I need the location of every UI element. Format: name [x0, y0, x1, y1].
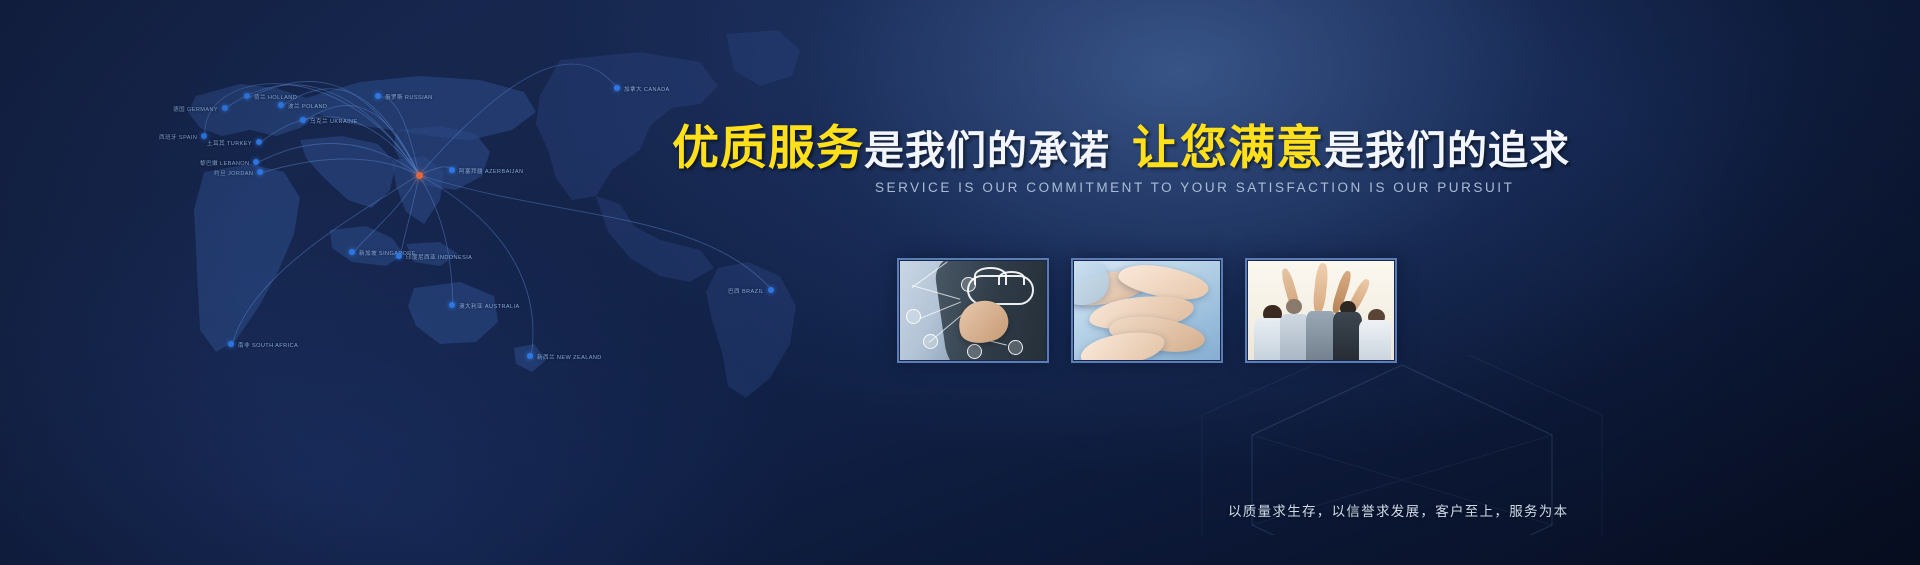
- map-marker-new-zealand[interactable]: [527, 353, 533, 359]
- map-label-germany: 德国 GERMANY: [173, 105, 218, 113]
- bottom-tagline: 以质量求生存，以信誉求发展，客户至上，服务为本: [1228, 500, 1568, 520]
- map-marker-indonesia[interactable]: [396, 253, 402, 259]
- world-map: 荷兰 HOLLAND德国 GERMANY波兰 POLAND乌克兰 UKRAINE…: [0, 0, 880, 430]
- team-high-five-photo[interactable]: [1245, 258, 1397, 363]
- headline-normal-1: 是我们的承诺: [864, 129, 1110, 173]
- map-marker-poland[interactable]: [278, 102, 284, 108]
- map-marker-ukraine[interactable]: [300, 117, 306, 123]
- headline-highlight-2: 让您满意: [1132, 121, 1324, 174]
- map-label-brazil: 巴西 BRAZIL: [728, 287, 764, 295]
- map-marker-germany[interactable]: [222, 105, 228, 111]
- map-label-indonesia: 印度尼西亚 INDONESIA: [406, 253, 472, 261]
- stacked-hands-photo[interactable]: [1071, 258, 1223, 363]
- map-label-canada: 加拿大 CANADA: [624, 85, 670, 93]
- promo-banner: 荷兰 HOLLAND德国 GERMANY波兰 POLAND乌克兰 UKRAINE…: [0, 0, 1920, 565]
- map-label-jordan: 约旦 JORDAN: [214, 169, 253, 177]
- map-marker-australia[interactable]: [449, 302, 455, 308]
- headline-normal-2: 是我们的追求: [1324, 129, 1570, 173]
- map-marker-south-africa[interactable]: [228, 341, 234, 347]
- map-label-new-zealand: 新西兰 NEW ZEALAND: [537, 353, 602, 361]
- map-marker-lebanon[interactable]: [253, 159, 259, 165]
- map-label-azerbaijan: 阿塞拜疆 AZERBAIJAN: [459, 167, 523, 175]
- map-label-spain: 西班牙 SPAIN: [159, 133, 197, 141]
- photo-strip: [897, 258, 1397, 363]
- map-label-lebanon: 黎巴嫩 LEBANON: [200, 159, 249, 167]
- map-marker-brazil[interactable]: [768, 287, 774, 293]
- map-marker-china[interactable]: [416, 172, 423, 179]
- map-marker-canada[interactable]: [614, 85, 620, 91]
- map-label-holland: 荷兰 HOLLAND: [254, 93, 297, 101]
- map-marker-turkey[interactable]: [256, 139, 262, 145]
- page-subtitle: SERVICE IS OUR COMMITMENT TO YOUR SATISF…: [875, 180, 1514, 195]
- headline-highlight-1: 优质服务: [672, 121, 864, 174]
- map-marker-holland[interactable]: [244, 93, 250, 99]
- map-label-russian: 俄罗斯 RUSSIAN: [385, 93, 433, 101]
- cloud-icon: [967, 275, 1034, 305]
- map-marker-singapore[interactable]: [349, 249, 355, 255]
- page-title: 优质服务是我们的承诺让您满意是我们的追求: [672, 124, 1570, 171]
- cloud-network-touch-photo[interactable]: [897, 258, 1049, 363]
- map-label-south-africa: 南非 SOUTH AFRICA: [238, 341, 298, 349]
- map-marker-jordan[interactable]: [257, 169, 263, 175]
- map-label-turkey: 土耳其 TURKEY: [207, 139, 252, 147]
- map-label-ukraine: 乌克兰 UKRAINE: [310, 117, 358, 125]
- map-marker-azerbaijan[interactable]: [449, 167, 455, 173]
- map-marker-russian[interactable]: [375, 93, 381, 99]
- map-label-australia: 澳大利亚 AUSTRALIA: [459, 302, 520, 310]
- map-label-poland: 波兰 POLAND: [288, 102, 327, 110]
